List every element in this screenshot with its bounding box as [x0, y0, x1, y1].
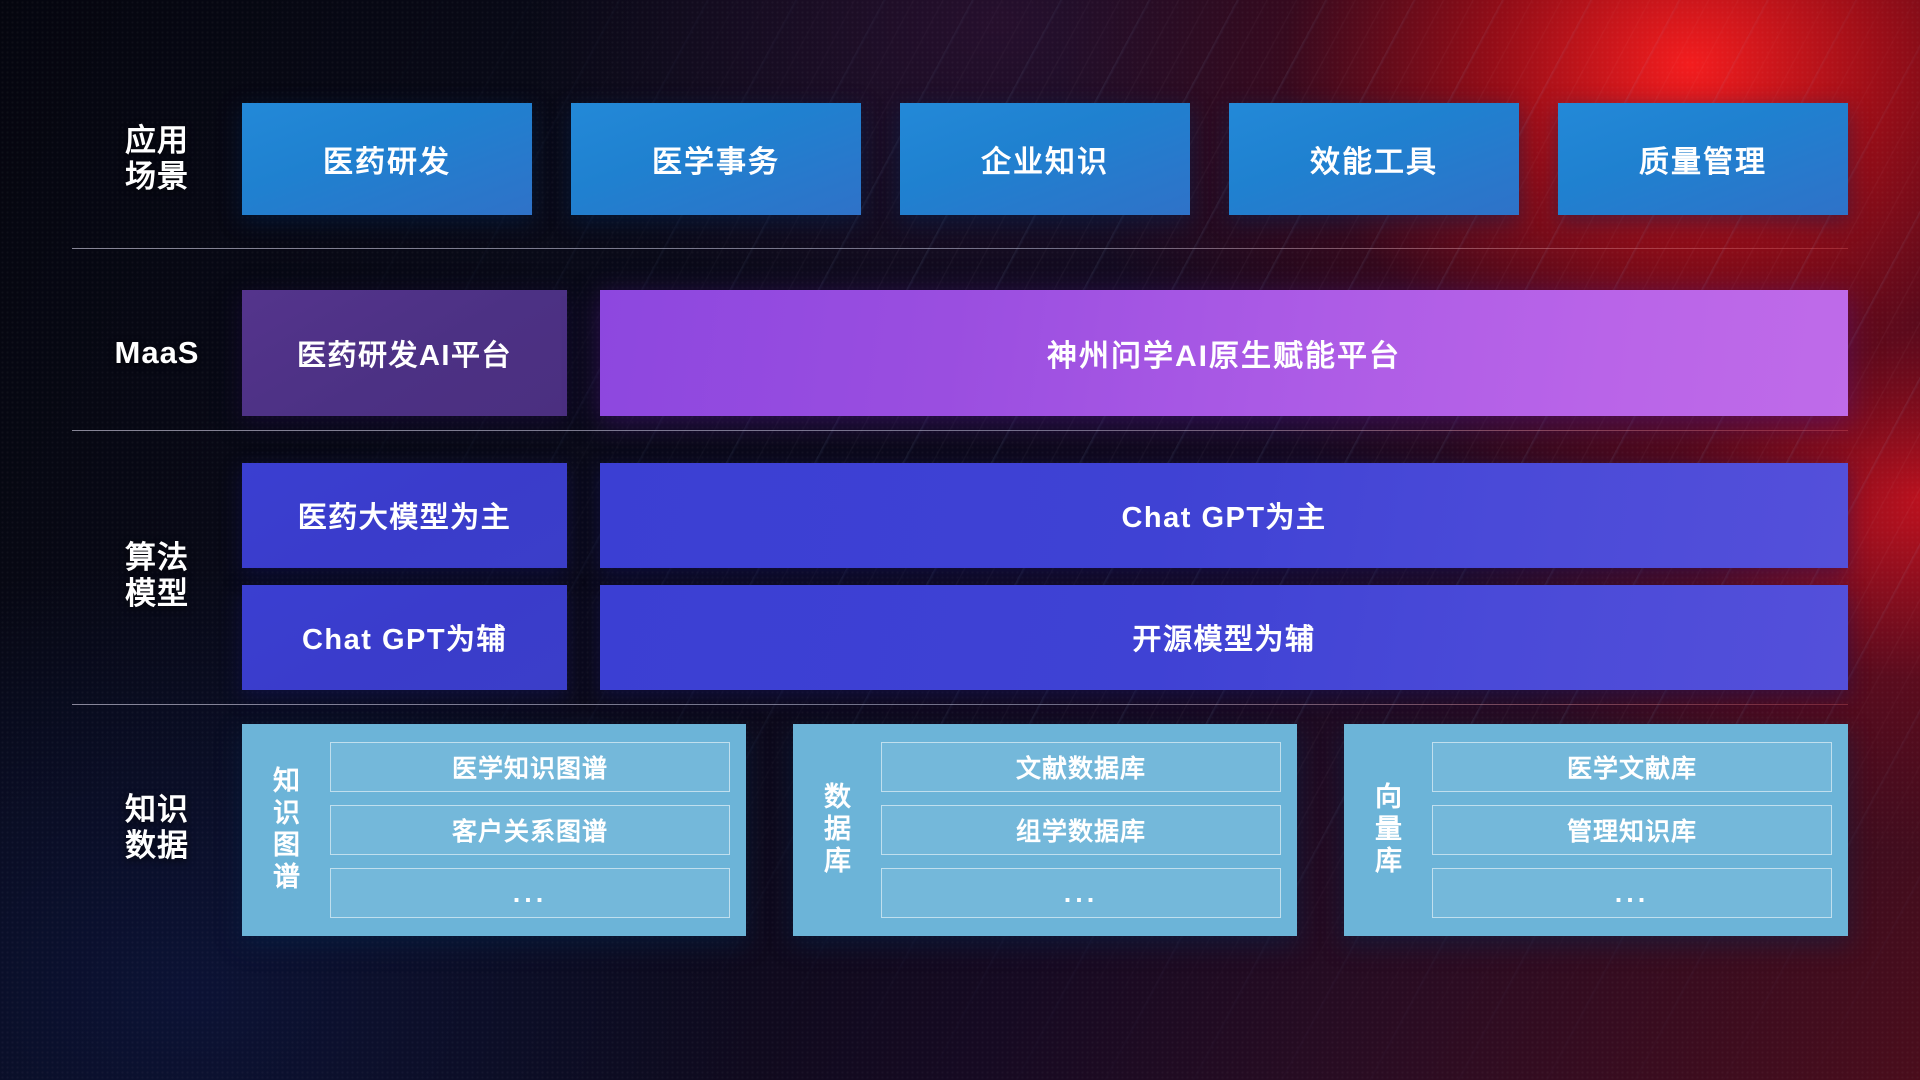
knowledge-group-vector-store: 向 量 库 医学文献库 管理知识库 ... [1344, 724, 1848, 936]
tier-application-label: 应用 场景 [72, 123, 242, 195]
algo-box-chatgpt-primary[interactable]: Chat GPT为主 [600, 463, 1848, 568]
tier-application: 应用 场景 医药研发 医学事务 企业知识 效能工具 质量管理 [72, 100, 1848, 218]
architecture-diagram: 应用 场景 医药研发 医学事务 企业知识 效能工具 质量管理 MaaS 医药研发… [0, 0, 1920, 1080]
tier-knowledge-groups: 知 识 图 谱 医学知识图谱 客户关系图谱 ... 数 据 库 文献数据库 组学… [242, 724, 1848, 936]
knowledge-group-knowledge-graph-items: 医学知识图谱 客户关系图谱 ... [330, 742, 730, 918]
maas-box-drug-rd-ai-platform[interactable]: 医药研发AI平台 [242, 290, 567, 416]
knowledge-item-more-3[interactable]: ... [1432, 868, 1832, 918]
knowledge-group-knowledge-graph-label: 知 识 图 谱 [258, 742, 316, 918]
divider-maas-algorithm [72, 430, 1848, 431]
tier-maas: MaaS 医药研发AI平台 神州问学AI原生赋能平台 [72, 288, 1848, 418]
knowledge-item-more-1[interactable]: ... [330, 868, 730, 918]
tier-algorithm: 算法 模型 医药大模型为主 Chat GPT为主 Chat GPT为辅 开源模型… [72, 462, 1848, 690]
tier-maas-boxes: 医药研发AI平台 神州问学AI原生赋能平台 [242, 290, 1848, 416]
tier-knowledge: 知识 数据 知 识 图 谱 医学知识图谱 客户关系图谱 ... 数 据 库 文献… [72, 724, 1848, 974]
algo-box-pharma-llm-primary[interactable]: 医药大模型为主 [242, 463, 567, 568]
algo-box-opensource-secondary[interactable]: 开源模型为辅 [600, 585, 1848, 690]
knowledge-item-more-2[interactable]: ... [881, 868, 1281, 918]
algorithm-row-primary: 医药大模型为主 Chat GPT为主 [242, 463, 1848, 568]
divider-algorithm-knowledge [72, 704, 1848, 705]
knowledge-group-knowledge-graph: 知 识 图 谱 医学知识图谱 客户关系图谱 ... [242, 724, 746, 936]
knowledge-group-vector-store-items: 医学文献库 管理知识库 ... [1432, 742, 1832, 918]
app-box-efficiency-tools[interactable]: 效能工具 [1229, 103, 1519, 215]
tier-algorithm-label: 算法 模型 [72, 540, 242, 612]
knowledge-item-omics-database[interactable]: 组学数据库 [881, 805, 1281, 855]
knowledge-item-literature-database[interactable]: 文献数据库 [881, 742, 1281, 792]
app-box-medical-affairs[interactable]: 医学事务 [571, 103, 861, 215]
algorithm-row-secondary: Chat GPT为辅 开源模型为辅 [242, 585, 1848, 690]
maas-box-shenzhou-wenxue-platform[interactable]: 神州问学AI原生赋能平台 [600, 290, 1848, 416]
tier-maas-label: MaaS [72, 335, 242, 371]
app-box-drug-rd[interactable]: 医药研发 [242, 103, 532, 215]
knowledge-item-customer-relation-graph[interactable]: 客户关系图谱 [330, 805, 730, 855]
app-box-quality-management[interactable]: 质量管理 [1558, 103, 1848, 215]
knowledge-group-database-items: 文献数据库 组学数据库 ... [881, 742, 1281, 918]
slide-canvas: 应用 场景 医药研发 医学事务 企业知识 效能工具 质量管理 MaaS 医药研发… [0, 0, 1920, 1080]
knowledge-group-vector-store-label: 向 量 库 [1360, 742, 1418, 918]
knowledge-item-management-knowledge-store[interactable]: 管理知识库 [1432, 805, 1832, 855]
knowledge-item-medical-literature-store[interactable]: 医学文献库 [1432, 742, 1832, 792]
knowledge-item-medical-knowledge-graph[interactable]: 医学知识图谱 [330, 742, 730, 792]
app-box-enterprise-knowledge[interactable]: 企业知识 [900, 103, 1190, 215]
knowledge-group-database-label: 数 据 库 [809, 742, 867, 918]
knowledge-group-database: 数 据 库 文献数据库 组学数据库 ... [793, 724, 1297, 936]
tier-knowledge-label: 知识 数据 [72, 724, 242, 864]
tier-application-boxes: 医药研发 医学事务 企业知识 效能工具 质量管理 [242, 103, 1848, 215]
divider-application-maas [72, 248, 1848, 249]
algo-box-chatgpt-secondary[interactable]: Chat GPT为辅 [242, 585, 567, 690]
tier-algorithm-boxes: 医药大模型为主 Chat GPT为主 Chat GPT为辅 开源模型为辅 [242, 463, 1848, 690]
